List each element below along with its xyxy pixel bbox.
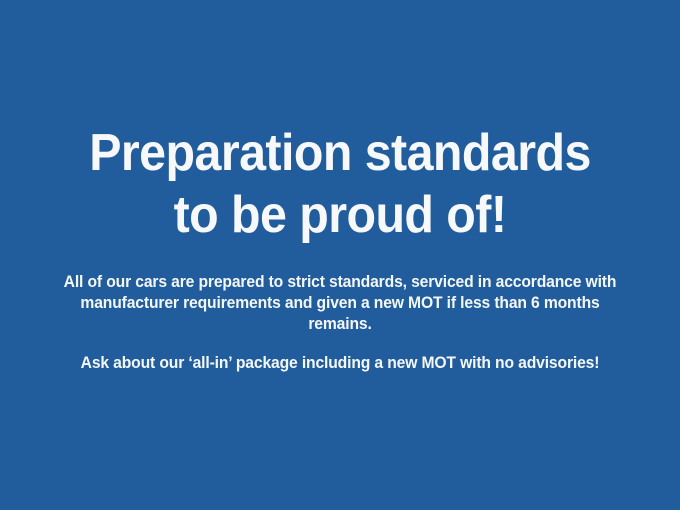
slide-content: Preparation standards to be proud of! Al… [0,0,680,374]
preparation-standards-paragraph: All of our cars are prepared to strict s… [55,272,625,335]
page-title: Preparation standards to be proud of! [48,0,632,246]
all-in-package-paragraph: Ask about our ‘all-in’ package including… [55,353,625,374]
body-copy-block: All of our cars are prepared to strict s… [42,246,639,374]
promotional-slide: Preparation standards to be proud of! Al… [0,0,680,510]
